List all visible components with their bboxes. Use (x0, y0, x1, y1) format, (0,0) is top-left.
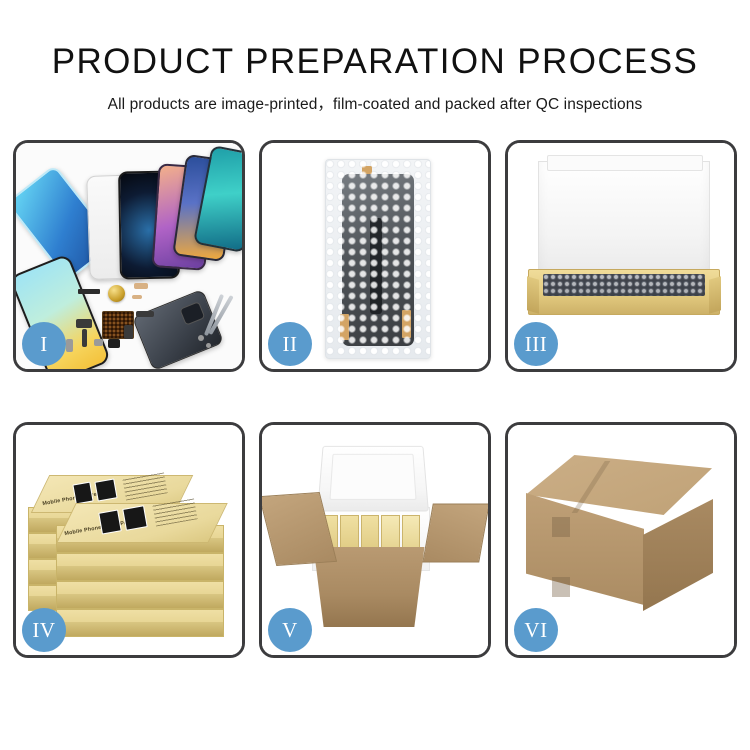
part-flex-icon (82, 329, 87, 347)
tray-right-flap-icon (709, 276, 721, 313)
process-steps-grid: I II (13, 140, 737, 690)
part-small-4-icon (124, 325, 133, 339)
step-badge-6: VI (514, 608, 558, 652)
part-connector-icon (76, 319, 92, 328)
step-numeral-1: I (40, 332, 48, 357)
stack-box-r2 (56, 553, 224, 581)
part-tan-2-icon (132, 295, 142, 299)
step-badge-1: I (22, 322, 66, 366)
box-window-front-1 (98, 509, 122, 534)
box-window-back-2 (94, 478, 117, 501)
part-small-2-icon (108, 339, 120, 348)
stack-box-r4 (56, 609, 224, 637)
step-numeral-3: III (525, 332, 547, 357)
bubble-wrap-bag-icon (325, 159, 431, 359)
box-window-back-1 (72, 482, 93, 505)
screw-icon (198, 335, 204, 341)
carton-tape-lower-icon (552, 577, 570, 597)
step-numeral-4: IV (32, 618, 55, 643)
step-card-5[interactable]: V (259, 422, 491, 658)
foam-open-lid-icon (317, 446, 429, 512)
box-window-front-2 (122, 505, 147, 530)
step-numeral-5: V (282, 618, 298, 643)
tray-left-flap-icon (527, 276, 539, 313)
product-preparation-page: PRODUCT PREPARATION PROCESS All products… (0, 0, 750, 750)
part-small-1-icon (94, 339, 103, 346)
part-bar-icon (78, 289, 100, 294)
stack-box-r3 (56, 581, 224, 609)
gold-component-icon (108, 285, 125, 302)
page-header: PRODUCT PREPARATION PROCESS All products… (0, 0, 750, 114)
page-title: PRODUCT PREPARATION PROCESS (0, 0, 750, 81)
screw-2-icon (206, 343, 211, 348)
carton-right-flap-icon (422, 503, 488, 562)
part-tan-1-icon (134, 283, 148, 289)
step-badge-2: II (268, 322, 312, 366)
step-badge-5: V (268, 608, 312, 652)
part-small-3-icon (66, 339, 73, 352)
step-card-3[interactable]: III (505, 140, 737, 372)
foam-lid-icon (538, 161, 710, 283)
step-card-1[interactable]: I (13, 140, 245, 372)
part-small-5-icon (136, 311, 154, 317)
step-card-2[interactable]: II (259, 140, 491, 372)
step-badge-4: IV (22, 608, 66, 652)
page-subtitle: All products are image-printed，film-coat… (0, 81, 750, 114)
bubble-texture-icon (326, 160, 430, 358)
step-numeral-2: II (283, 332, 298, 357)
carton-left-face-icon (526, 493, 644, 605)
yellow-box-tray-icon (528, 269, 720, 315)
step-badge-3: III (514, 322, 558, 366)
step-numeral-6: VI (524, 618, 547, 643)
carton-right-face-icon (643, 499, 713, 611)
step-card-4[interactable]: Mobile Phone Spare Parts Mobile Phone Sp… (13, 422, 245, 658)
bubble-wrap-fill-icon (543, 274, 705, 296)
step-card-6[interactable]: VI (505, 422, 737, 658)
carton-tape-upper-icon (552, 517, 570, 537)
box-stack-icon: Mobile Phone Spare Parts Mobile Phone Sp… (28, 451, 236, 637)
